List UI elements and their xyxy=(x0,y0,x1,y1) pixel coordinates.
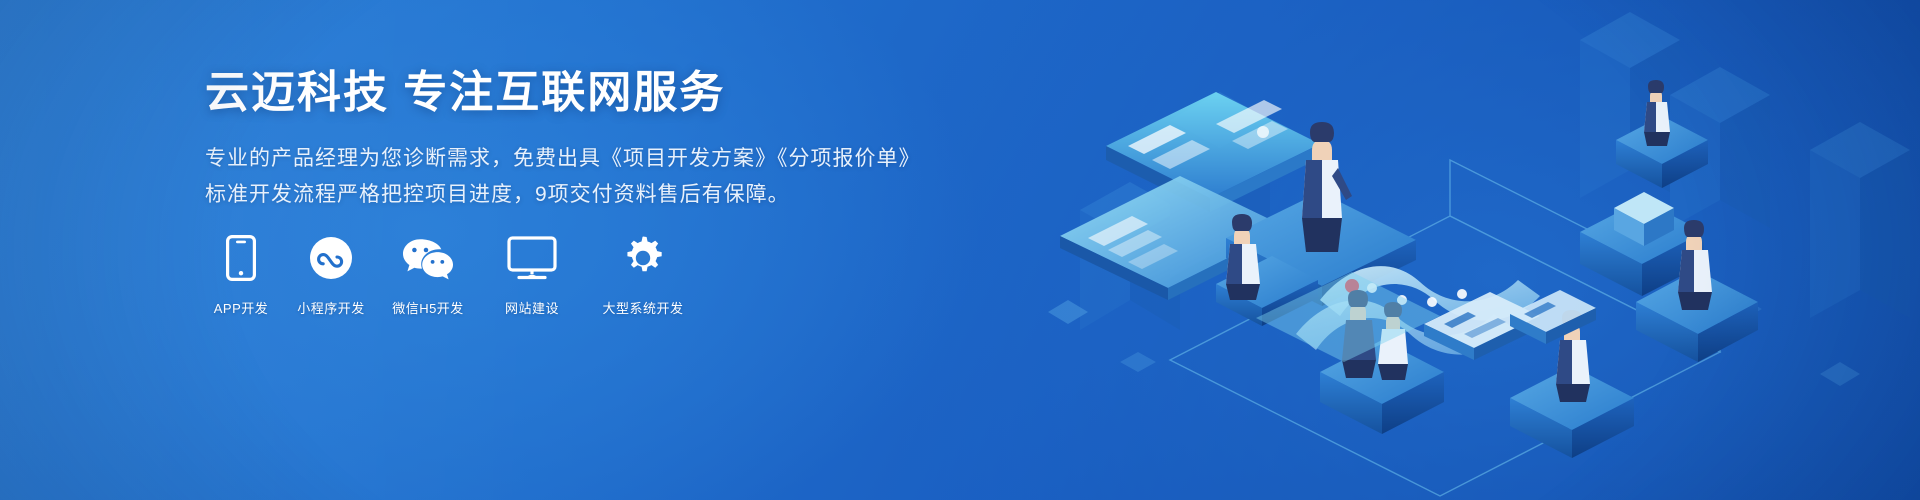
service-item-wechat-h5[interactable]: 微信H5开发 xyxy=(385,232,471,317)
service-item-large-system[interactable]: 大型系统开发 xyxy=(593,232,693,317)
monitor-icon xyxy=(489,232,575,284)
isometric-illustration xyxy=(1020,0,1920,500)
service-item-mini-program[interactable]: 小程序开发 xyxy=(295,232,367,317)
service-label: 网站建设 xyxy=(489,298,575,317)
mobile-phone-icon xyxy=(205,232,277,284)
subtitle-line-2: 标准开发流程严格把控项目进度，9项交付资料售后有保障。 xyxy=(205,177,965,213)
service-label: 微信H5开发 xyxy=(385,298,471,317)
wechat-icon xyxy=(385,232,471,284)
service-item-website[interactable]: 网站建设 xyxy=(489,232,575,317)
page-title: 云迈科技 专注互联网服务 xyxy=(205,68,965,119)
service-label: 小程序开发 xyxy=(295,298,367,317)
gear-icon xyxy=(593,232,693,284)
service-label: APP开发 xyxy=(205,298,277,317)
banner-content: 云迈科技 专注互联网服务 专业的产品经理为您诊断需求，免费出具《项目开发方案》《… xyxy=(205,68,965,213)
mini-program-icon xyxy=(295,232,367,284)
subtitle-line-1: 专业的产品经理为您诊断需求，免费出具《项目开发方案》《分项报价单》 xyxy=(205,141,965,177)
service-item-app[interactable]: APP开发 xyxy=(205,232,277,317)
service-label: 大型系统开发 xyxy=(593,298,693,317)
hero-banner: 云迈科技 专注互联网服务 专业的产品经理为您诊断需求，免费出具《项目开发方案》《… xyxy=(0,0,1920,500)
service-list: APP开发 小程序开发 微信 xyxy=(205,232,693,317)
banner-subtitle: 专业的产品经理为您诊断需求，免费出具《项目开发方案》《分项报价单》 标准开发流程… xyxy=(205,141,965,213)
